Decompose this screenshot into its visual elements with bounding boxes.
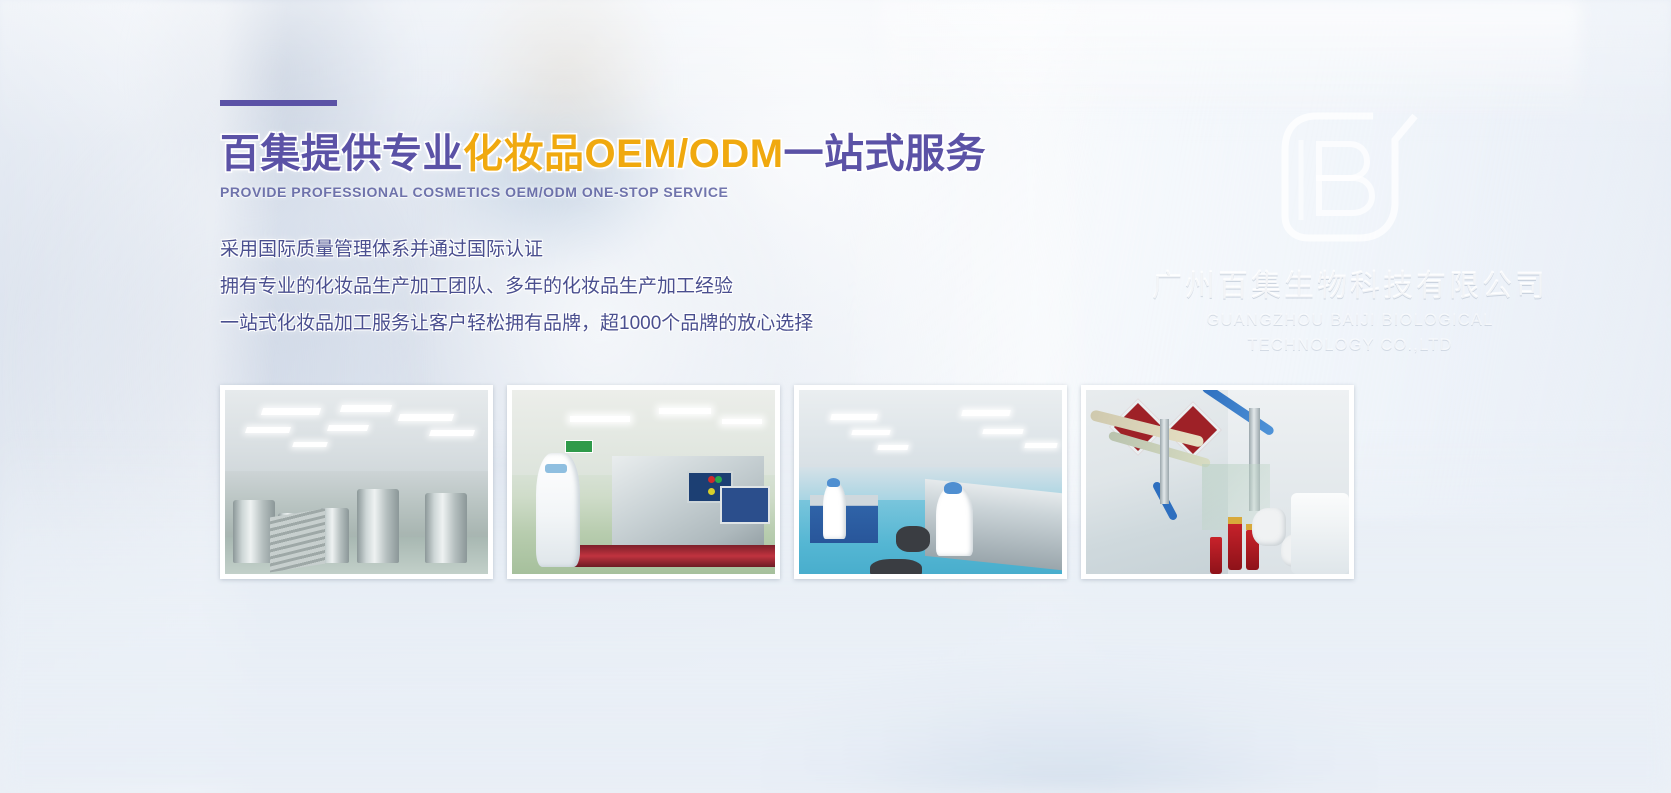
page-subtitle: PROVIDE PROFESSIONAL COSMETICS OEM/ODM O…	[220, 184, 1220, 200]
page-title: 百集提供专业化妆品OEM/ODM一站式服务	[220, 132, 1220, 176]
company-name-en-line2: TECHNOLOGY CO.,LTD	[1140, 334, 1560, 356]
gallery-photo-4[interactable]	[1081, 385, 1354, 579]
company-logo-icon	[1255, 100, 1445, 250]
title-segment-tail: 一站式服务	[784, 132, 987, 176]
laboratory-scene	[799, 390, 1062, 574]
bottling-scene	[1086, 390, 1349, 574]
gallery-photo-1[interactable]	[220, 385, 493, 579]
selling-points-list: 采用国际质量管理体系并通过国际认证 拥有专业的化妆品生产加工团队、多年的化妆品生…	[220, 240, 1220, 333]
accent-rule	[220, 100, 337, 106]
photo-gallery	[220, 385, 1354, 579]
workshop-scene	[225, 390, 488, 574]
gallery-photo-2[interactable]	[507, 385, 780, 579]
selling-point-3: 一站式化妆品加工服务让客户轻松拥有品牌，超1000个品牌的放心选择	[220, 314, 1220, 333]
banner-stage: 广州百集生物科技有限公司 GUANGZHOU BAIJI BIOLOGICAL …	[0, 0, 1671, 793]
selling-point-2: 拥有专业的化妆品生产加工团队、多年的化妆品生产加工经验	[220, 277, 1220, 296]
title-segment-lead: 百集提供专业	[220, 132, 463, 176]
filling-line-scene	[512, 390, 775, 574]
copy-block: 百集提供专业化妆品OEM/ODM一站式服务 PROVIDE PROFESSION…	[220, 100, 1220, 333]
selling-point-1: 采用国际质量管理体系并通过国际认证	[220, 240, 1220, 259]
gallery-photo-3[interactable]	[794, 385, 1067, 579]
title-segment-highlight: 化妆品OEM/ODM	[463, 132, 784, 176]
